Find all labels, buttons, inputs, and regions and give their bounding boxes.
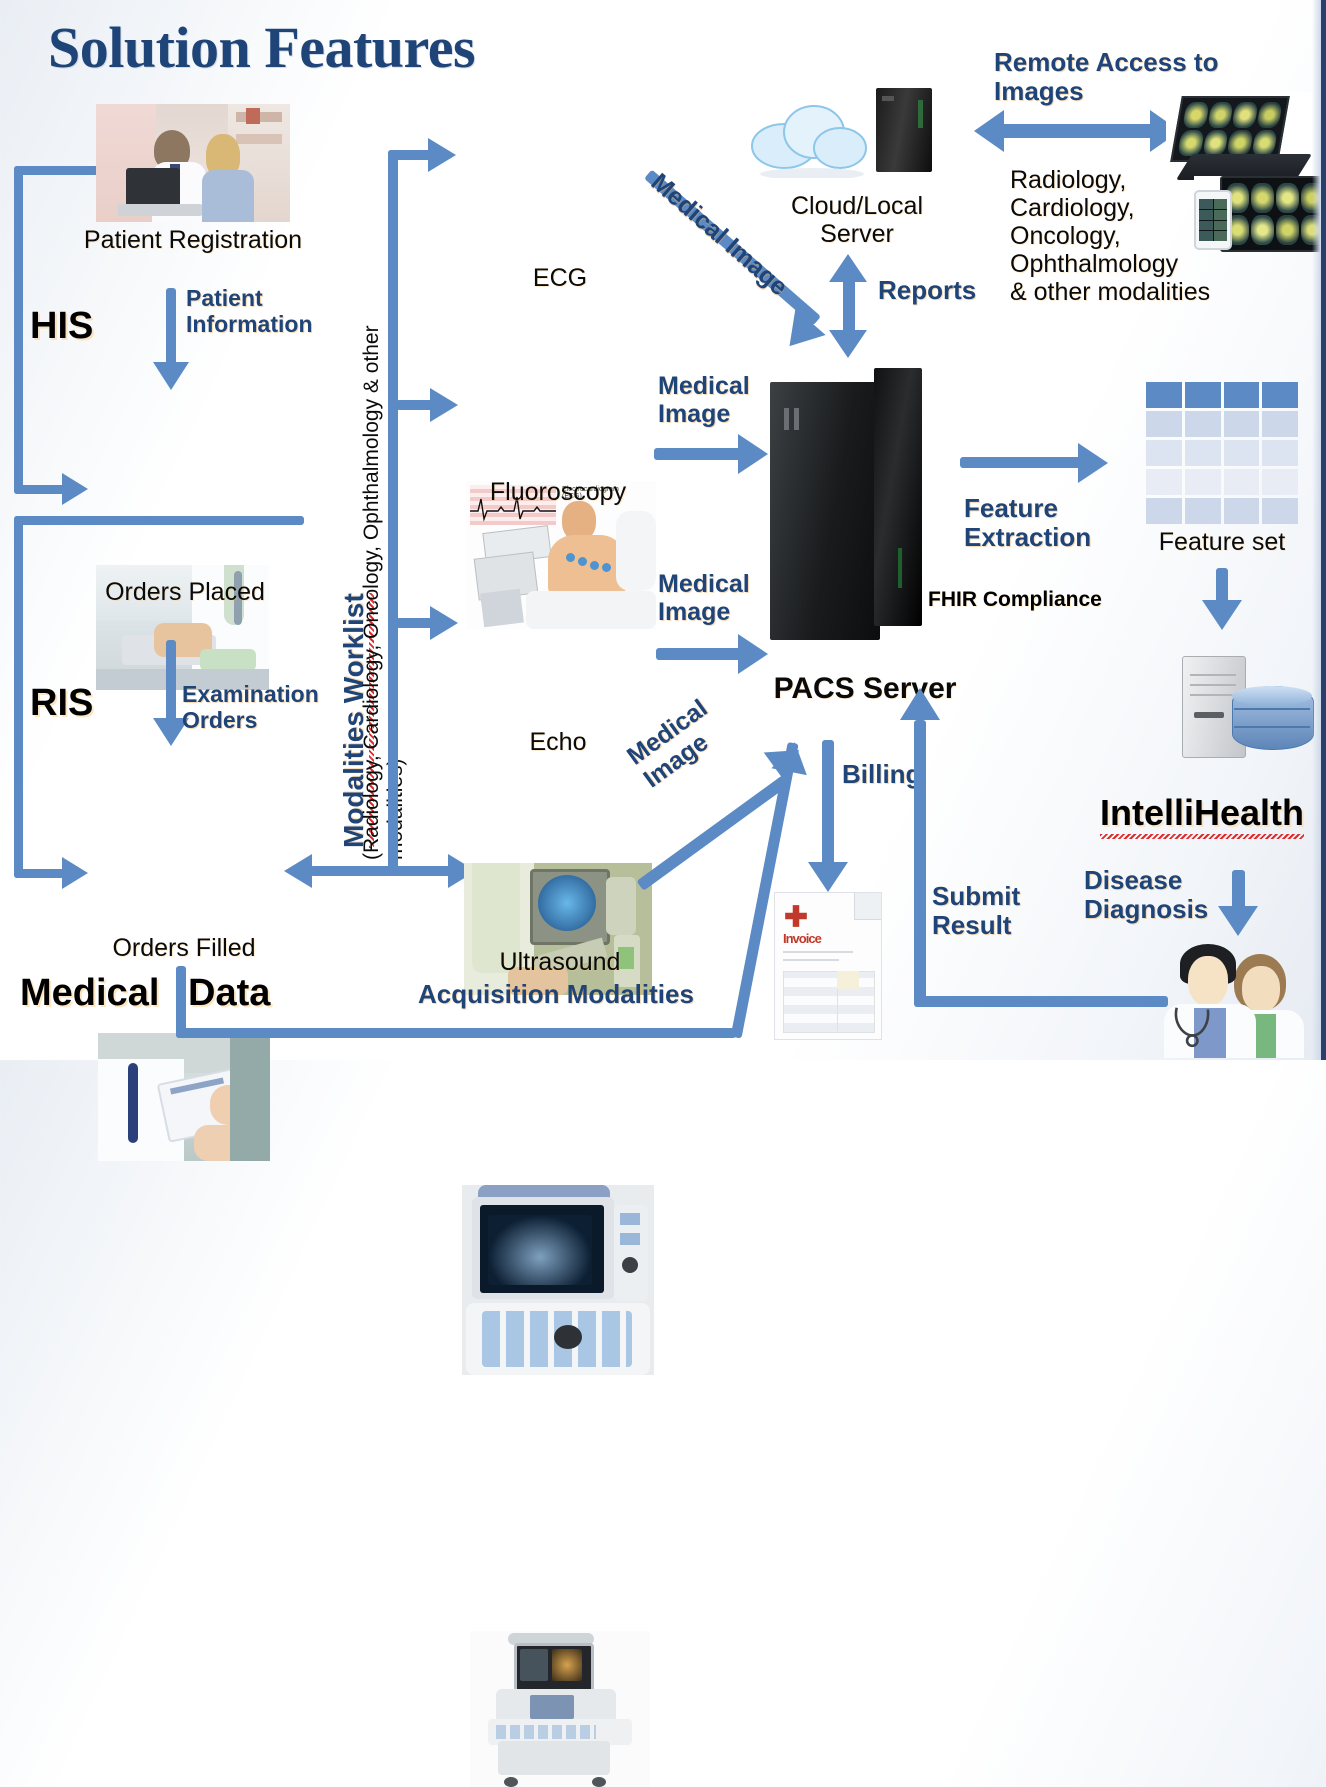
billing-arrow-shaft: [822, 740, 834, 868]
ris-bracket-left: [14, 516, 23, 878]
submit-result-arrowhead: [900, 688, 940, 720]
feature-set-cell: [1185, 440, 1221, 466]
feature-set-cell: [1185, 411, 1221, 437]
edge-label-medical-image-fluoroscopy: Medical Image: [658, 372, 750, 428]
worklist-trunk: [388, 150, 398, 876]
node-label-cloud-local-server: Cloud/Local Server: [766, 192, 948, 248]
edge-label-billing: Billing: [842, 760, 921, 789]
edge-label-submit-result: Submit Result: [932, 882, 1020, 940]
system-label-medical-data-left: Medical: [20, 972, 159, 1015]
feature-set-cell: [1224, 498, 1260, 524]
invoice-word: Invoice: [783, 931, 821, 946]
disease-diagnosis-arrow-shaft: [1232, 870, 1245, 910]
orders-filled-image: [98, 1033, 270, 1161]
medical-image-echo-arrow-shaft: [656, 648, 748, 660]
feature-set-cell: [1262, 498, 1298, 524]
pacs-server-image: [770, 368, 922, 640]
page-title: Solution Features: [48, 14, 475, 81]
feature-set-cell: [1262, 469, 1298, 495]
laptop-viewer-image: [1166, 92, 1312, 184]
reports-arrowhead-down: [829, 330, 867, 358]
node-label-pacs-server: PACS Server: [740, 672, 990, 706]
submit-result-rail-connector: [914, 996, 1042, 1007]
submit-result-rail-bottom: [1038, 996, 1168, 1007]
feature-set-cell: [1146, 440, 1182, 466]
node-label-ecg: ECG: [480, 264, 640, 292]
feature-set-header-cell: [1224, 382, 1260, 408]
echo-image: [462, 1185, 654, 1375]
reports-arrow-shaft: [843, 278, 855, 336]
invoice-image: Invoice: [774, 892, 882, 1040]
feature-extraction-arrowhead: [1078, 443, 1108, 483]
feature-set-cell: [1262, 411, 1298, 437]
feature-set-cell: [1224, 440, 1260, 466]
node-label-feature-set: Feature set: [1142, 528, 1302, 556]
medical-image-echo-arrowhead: [738, 634, 768, 674]
node-label-echo: Echo: [480, 728, 636, 756]
edge-label-reports: Reports: [878, 276, 976, 305]
ultrasound-image: [470, 1631, 650, 1787]
feature-extraction-arrow-shaft: [960, 457, 1088, 468]
his-arrowhead: [62, 473, 88, 505]
ris-arrowhead: [62, 857, 88, 889]
feature-set-header-cell: [1262, 382, 1298, 408]
node-label-acquisition-modalities: Acquisition Modalities: [418, 980, 694, 1009]
system-label-ris: RIS: [30, 682, 93, 725]
edge-label-disease-diagnosis: Disease Diagnosis: [1084, 866, 1208, 924]
right-edge-line: [1321, 0, 1326, 1060]
edge-label-medical-image-echo: Medical Image: [658, 570, 750, 626]
remote-access-arrowhead-left: [974, 110, 1004, 152]
cloud-local-server-image: [748, 84, 958, 194]
feature-set-cell: [1262, 440, 1298, 466]
node-label-ultrasound: Ultrasound: [470, 948, 650, 976]
worklist-branch-ultrasound-shaft: [310, 866, 460, 876]
edge-label-feature-extraction: Feature Extraction: [964, 494, 1091, 552]
edge-label-medical-image-ultrasound: Medical Image: [622, 694, 729, 793]
stethoscope-icon: [1166, 1006, 1222, 1058]
worklist-detail: (Radiology, Cardiology, Oncology, Ophtha…: [360, 160, 408, 860]
feature-set-header-cell: [1146, 382, 1182, 408]
worklist-branch-ecg-arrowhead: [428, 138, 456, 172]
intellihealth-image: [1176, 650, 1324, 766]
patient-information-arrow-shaft: [166, 288, 176, 368]
feature-set-cell: [1185, 469, 1221, 495]
node-label-orders-filled: Orders Filled: [56, 934, 312, 962]
remote-access-arrow-shaft: [1000, 124, 1162, 138]
node-label-orders-placed: Orders Placed: [60, 578, 310, 606]
worklist-branch-echo-arrowhead: [430, 606, 458, 640]
system-label-medical-data-right: Data: [188, 972, 270, 1015]
his-bracket-left: [14, 166, 23, 494]
worklist-branch-fluoroscopy-arrowhead: [430, 388, 458, 422]
node-label-intellihealth: IntelliHealth: [1100, 792, 1304, 834]
feature-set-table: [1146, 382, 1298, 524]
feature-set-to-intellihealth-shaft: [1216, 568, 1228, 604]
worklist-branch-ultrasound-arrowhead-left: [284, 854, 312, 888]
clinicians-image: [1158, 930, 1318, 1058]
node-label-fluoroscopy: Fluoroscopy: [466, 478, 650, 506]
patient-registration-image: [96, 104, 290, 222]
reports-arrowhead-up: [829, 254, 867, 282]
medical-image-fluoroscopy-arrowhead: [738, 434, 768, 474]
edge-label-patient-information: Patient Information: [186, 286, 313, 338]
feature-set-header-cell: [1185, 382, 1221, 408]
feature-set-cell: [1146, 469, 1182, 495]
slide-canvas: Solution Features HIS RIS Patient Regist…: [0, 0, 1326, 1060]
edge-label-fhir-compliance: FHIR Compliance: [928, 588, 1102, 612]
examination-orders-arrow-shaft: [166, 640, 176, 724]
feature-set-cell: [1146, 411, 1182, 437]
system-label-his: HIS: [30, 305, 93, 348]
feature-set-to-intellihealth-arrowhead: [1202, 600, 1242, 630]
medical-image-fluoroscopy-arrow-shaft: [654, 448, 748, 460]
feature-set-cell: [1224, 411, 1260, 437]
feature-set-cell: [1146, 498, 1182, 524]
feature-set-cell: [1185, 498, 1221, 524]
medical-cross-icon: [783, 903, 809, 929]
submit-result-rail-vertical: [914, 720, 926, 1006]
edge-label-examination-orders: Examination Orders: [182, 682, 319, 734]
medical-data-rail-horizontal: [176, 1028, 736, 1038]
cloud-icon: [748, 88, 878, 178]
node-label-intellihealth-text: IntelliHealth: [1100, 792, 1304, 834]
patient-information-arrowhead: [153, 362, 189, 390]
feature-set-cell: [1224, 469, 1260, 495]
tablet-phone-viewer-image: [1194, 176, 1326, 248]
billing-arrowhead: [808, 862, 848, 892]
ris-bracket-top: [14, 516, 304, 525]
node-label-patient-registration: Patient Registration: [60, 226, 326, 254]
